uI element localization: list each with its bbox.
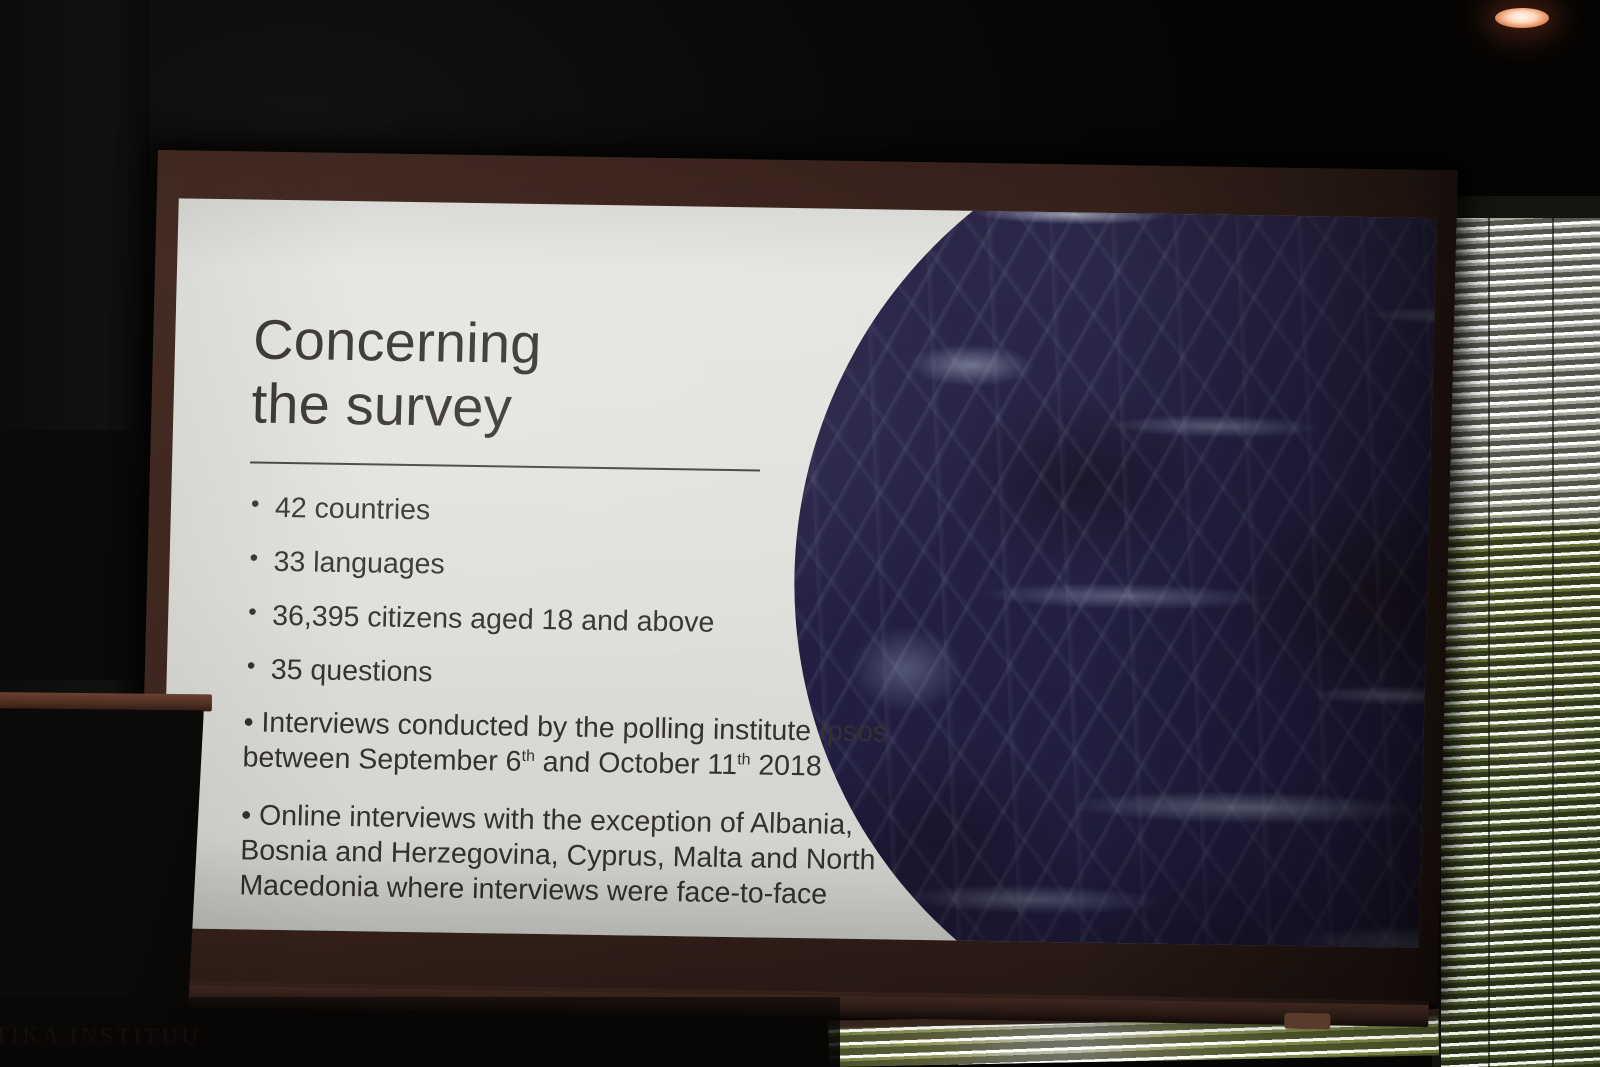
title-divider-rule [250,461,760,471]
slide-text-column: Concerning the survey 42 countries 33 la… [238,308,914,937]
window-frame-top [1432,196,1600,218]
slide-title: Concerning the survey [251,308,914,446]
list-item: 42 countries [249,489,910,536]
venetian-blinds-right[interactable] [1432,196,1600,1067]
blind-cord[interactable] [1552,196,1554,1067]
room-scene: Concerning the survey 42 countries 33 la… [0,0,1600,1067]
list-item-online-exception: • Online interviews with the exception o… [239,798,902,914]
list-item: 36,395 citizens aged 18 and above [246,597,907,644]
interviews-year: 2018 [750,750,822,783]
interviews-mid: and October 11 [534,746,737,781]
projector-screen: Concerning the survey 42 countries 33 la… [137,150,1458,1005]
ordinal-suffix-october: th [737,751,751,768]
slide-bullet-list: 42 countries 33 languages 36,395 citizen… [239,489,909,914]
screen-pull-knob[interactable] [1284,1013,1330,1030]
ceiling-spotlight-icon [1495,8,1549,28]
foreground-shadow [0,997,840,1067]
lectern-top-edge [0,692,212,711]
list-item: 35 questions [244,651,905,698]
window-right [1432,196,1600,1067]
wall-dark-block [0,430,160,680]
list-item: 33 languages [247,543,908,590]
list-item-interviews-dates: • Interviews conducted by the polling in… [242,705,904,786]
ordinal-suffix-september: th [521,748,535,765]
blind-cord[interactable] [1488,196,1490,1067]
presentation-slide: Concerning the survey 42 countries 33 la… [160,198,1436,948]
